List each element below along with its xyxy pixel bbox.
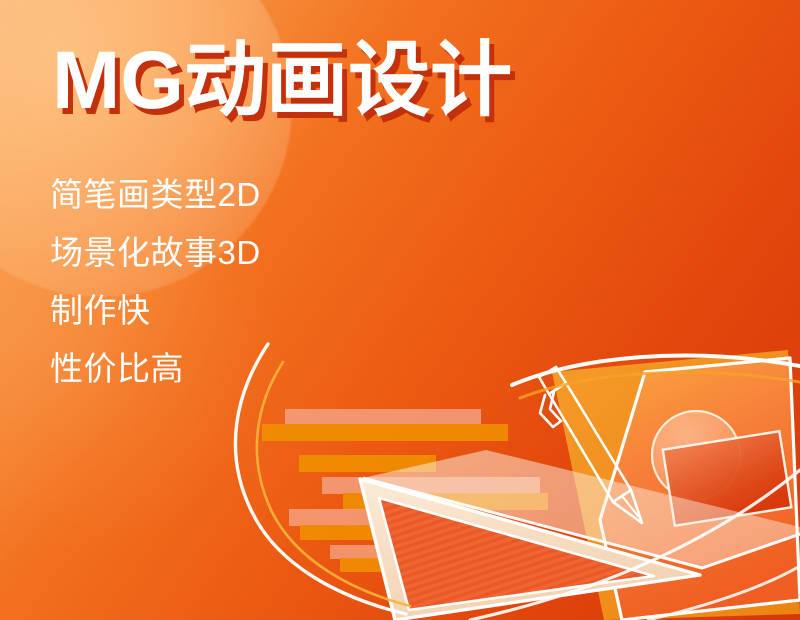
feature-item-2: 场景化故事3D xyxy=(50,236,261,269)
feature-item-3: 制作快 xyxy=(50,294,261,327)
feature-item-1: 简笔画类型2D xyxy=(50,178,261,211)
feature-item-4: 性价比高 xyxy=(50,352,261,385)
promo-banner: MG动画设计 简笔画类型2D 场景化故事3D 制作快 性价比高 xyxy=(0,0,800,620)
feature-list: 简笔画类型2D 场景化故事3D 制作快 性价比高 xyxy=(50,178,261,385)
page-title: MG动画设计 xyxy=(52,38,512,124)
